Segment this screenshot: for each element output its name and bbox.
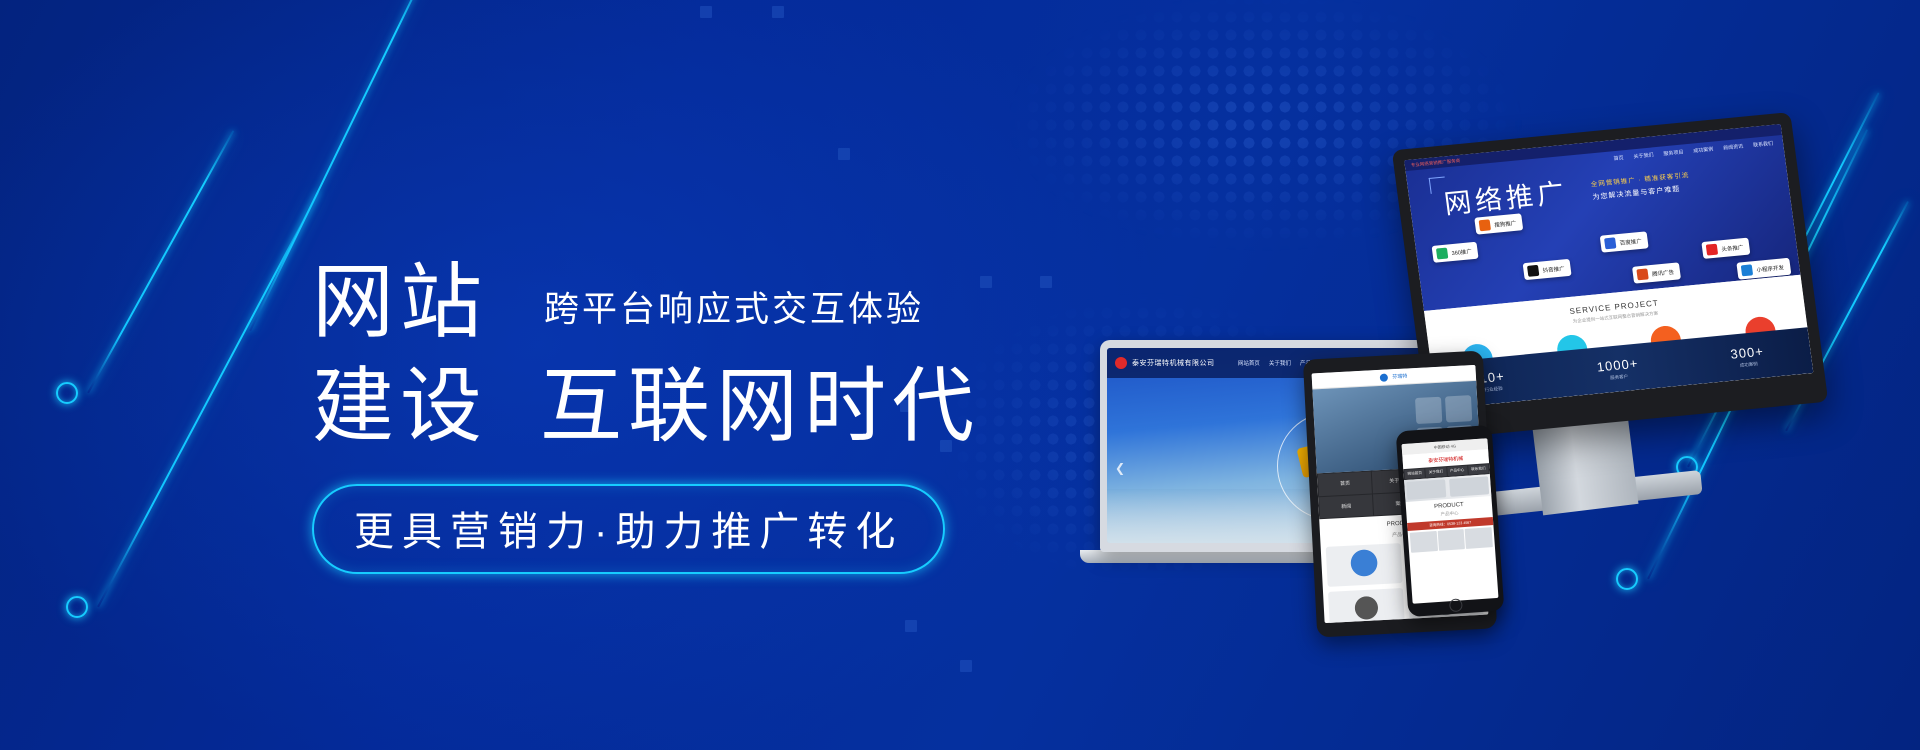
chip-label: 腾讯广告 [1652,267,1675,277]
dot-pixel [700,6,712,18]
tablet-logo-icon [1380,373,1388,381]
laptop-brand: 泰安芬瑞特机械有限公司 [1132,358,1215,368]
company-logo-icon [1115,357,1127,369]
dot-pixel [838,148,850,160]
stat-item: 300+ 成功案例 [1730,343,1766,369]
baidu-icon [1604,237,1616,249]
phone-nav-item[interactable]: 网站首页 [1404,469,1425,479]
toutiao-icon [1706,244,1718,256]
tencent-icon [1636,268,1648,280]
thumb [1415,397,1442,424]
phone-product-grid [1408,525,1495,555]
chip-label: 百度推广 [1619,236,1642,246]
tablet-brand: 芬瑞特 [1392,372,1407,380]
phone-screen: 中国移动 4G 泰安芬瑞特机械 网站首页 关于我们 产品中心 联系我们 PR [1402,438,1499,604]
product-thumb[interactable] [1410,531,1438,553]
laptop-nav-item[interactable]: 网站首页 [1238,359,1260,367]
phone-nav-item[interactable]: 关于我们 [1426,467,1447,477]
sogou-icon [1479,219,1491,231]
product-thumb[interactable] [1326,543,1402,587]
platform-chip[interactable]: 百度推广 [1600,231,1649,252]
monitor-nav-item[interactable]: 关于我们 [1633,151,1654,160]
thumb [1445,395,1472,422]
douyin-icon [1527,265,1539,277]
device-mockup-cluster: 泰安芬瑞特机械有限公司 网站首页 关于我们 产品中心 新闻资讯 客户案例 联系我… [1080,130,1880,650]
platform-chip[interactable]: 搜狗推广 [1474,213,1523,234]
monitor-nav-item[interactable]: 服务项目 [1663,148,1684,157]
platform-chip[interactable]: 抖音推广 [1523,259,1572,280]
banner-slide [1449,476,1489,497]
stat-value: 1000+ [1596,355,1639,374]
platform-chip[interactable]: 360推广 [1432,242,1479,263]
hero-subtitle: 跨平台响应式交互体验 [544,281,924,344]
chip-label: 抖音推广 [1542,264,1565,274]
carousel-prev-icon[interactable]: ❮ [1115,461,1125,475]
phone-brand: 泰安芬瑞特机械 [1428,454,1463,463]
product-thumb[interactable] [1328,588,1404,623]
tablet-menu-item[interactable]: 首页 [1318,471,1372,495]
phone-nav-item[interactable]: 联系我们 [1468,464,1489,474]
miniprogram-icon [1741,264,1753,276]
monitor-nav-item[interactable]: 首页 [1613,154,1624,162]
product-thumb[interactable] [1465,527,1493,549]
laptop-nav-item[interactable]: 关于我们 [1269,359,1291,367]
stat-label: 服务客户 [1598,372,1640,382]
phone-nav-item[interactable]: 产品中心 [1447,466,1468,476]
tablet-menu-item[interactable]: 新闻 [1319,494,1373,518]
chip-label: 搜狗推广 [1494,218,1517,228]
headline-line-2: 建设 [312,366,488,448]
chip-label: 小程序开发 [1756,263,1784,274]
headline-right: 互联网时代 [540,366,980,448]
monitor-nav-item[interactable]: 联系我们 [1753,140,1774,149]
platform-chip[interactable]: 腾讯广告 [1632,262,1681,283]
product-thumb[interactable] [1437,529,1465,551]
phone-mockup: 中国移动 4G 泰安芬瑞特机械 网站首页 关于我们 产品中心 联系我们 PR [1396,425,1505,617]
platform-chip[interactable]: 头条推广 [1701,238,1750,259]
headline-line-1: 网站 [312,262,488,344]
stat-value: 300+ [1730,343,1765,361]
tagline-badge: 更具营销力·助力推广转化 [312,484,945,574]
threesixty-icon [1436,248,1448,260]
chip-label: 360推广 [1451,247,1472,257]
stat-label: 成功案例 [1732,360,1766,369]
dot-pixel [772,6,784,18]
chip-label: 头条推广 [1721,243,1744,253]
phone-body: 中国移动 4G 泰安芬瑞特机械 网站首页 关于我们 产品中心 联系我们 PR [1396,425,1505,617]
monitor-nav-item[interactable]: 新闻资讯 [1723,143,1744,152]
tagline-wrapper: 更具营销力·助力推广转化 [312,484,1072,574]
hero-banner: 网站 跨平台响应式交互体验 建设 互联网时代 更具营销力·助力推广转化 泰安芬瑞… [0,0,1920,750]
monitor-nav-item[interactable]: 成功案例 [1693,146,1714,155]
stat-item: 1000+ 服务客户 [1596,355,1640,382]
hero-copy: 网站 跨平台响应式交互体验 建设 互联网时代 更具营销力·助力推广转化 [312,262,1072,574]
banner-slide [1406,479,1446,500]
